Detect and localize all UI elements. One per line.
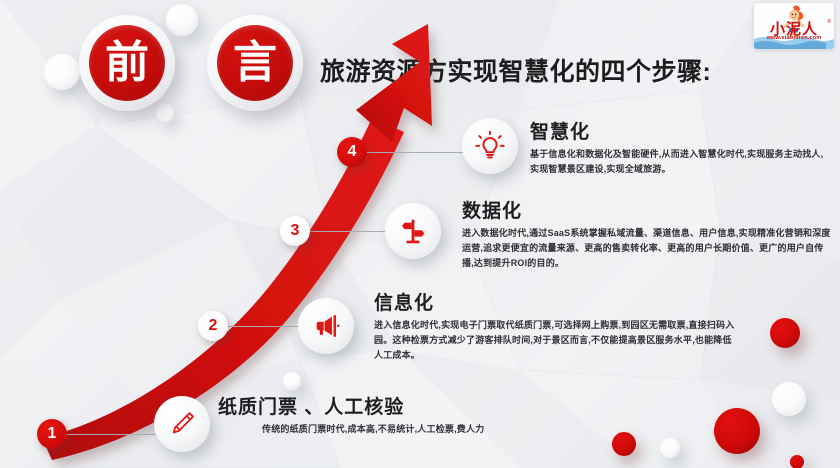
registered-mark: ® (827, 19, 831, 25)
step-3-connector (305, 231, 387, 232)
decorative-sphere (166, 4, 198, 36)
pencil-icon[interactable] (154, 396, 210, 452)
slide-canvas: 前 言 旅游资源方实现智慧化的四个步骤: 4 (0, 0, 840, 468)
step-2-marker[interactable]: 2 (198, 311, 228, 341)
decorative-sphere (770, 318, 800, 348)
decorative-sphere (44, 54, 80, 90)
decorative-sphere (790, 455, 804, 468)
step-4-text: 智慧化 基于信息化和数据化及智能硬件,从而进入智慧化时代,实现服务主动找人,实现… (530, 117, 830, 177)
badge-yan-label: 言 (217, 25, 293, 101)
step-4-heading: 智慧化 (530, 117, 830, 144)
step-3-text: 数据化 进入数据化时代,通过SaaS系统掌握私域流量、渠道信息、用户信息,实现精… (462, 196, 834, 271)
signpost-icon[interactable] (385, 203, 441, 259)
megaphone-icon[interactable] (298, 298, 354, 354)
decorative-sphere (283, 372, 301, 390)
step-1-heading: 纸质门票 、人工核验 (218, 392, 558, 419)
decorative-sphere (772, 382, 806, 416)
badge-qian-label: 前 (89, 25, 165, 101)
step-4-body: 基于信息化和数据化及智能硬件,从而进入智慧化时代,实现服务主动找人,实现智慧景区… (530, 147, 830, 177)
step-3-heading: 数据化 (462, 196, 834, 223)
step-2-connector (228, 326, 300, 327)
lightbulb-icon[interactable] (462, 118, 518, 174)
decorative-sphere (156, 104, 174, 122)
decorative-sphere (612, 432, 636, 456)
step-2-heading: 信息化 (374, 288, 740, 315)
step-1-connector (62, 434, 158, 435)
step-3-marker[interactable]: 3 (280, 216, 310, 246)
decorative-sphere (660, 438, 680, 458)
step-4-connector (358, 152, 476, 153)
badge-qian: 前 (79, 15, 175, 111)
step-1-body: 传统的纸质门票时代,成本高,不易统计,人工检票,费人力 (218, 422, 558, 437)
step-1-marker[interactable]: 1 (37, 419, 67, 449)
step-4-marker[interactable]: 4 (337, 137, 367, 167)
step-2-body: 进入信息化时代,实现电子门票取代纸质门票,可选择网上购票,到园区无需取票,直接扫… (374, 318, 740, 363)
decorative-sphere (714, 408, 760, 454)
step-2-text: 信息化 进入信息化时代,实现电子门票取代纸质门票,可选择网上购票,到园区无需取票… (374, 288, 740, 363)
badge-yan: 言 (207, 15, 303, 111)
step-1-text: 纸质门票 、人工核验 传统的纸质门票时代,成本高,不易统计,人工检票,费人力 (218, 392, 558, 437)
step-3-body: 进入数据化时代,通过SaaS系统掌握私域流量、渠道信息、用户信息,实现精准化营销… (462, 226, 834, 271)
brand-logo[interactable]: 小泥人 www.xiaoniren.com ® (754, 3, 834, 49)
page-title: 旅游资源方实现智慧化的四个步骤: (320, 52, 711, 88)
logo-url: www.xiaoniren.com (754, 36, 834, 42)
